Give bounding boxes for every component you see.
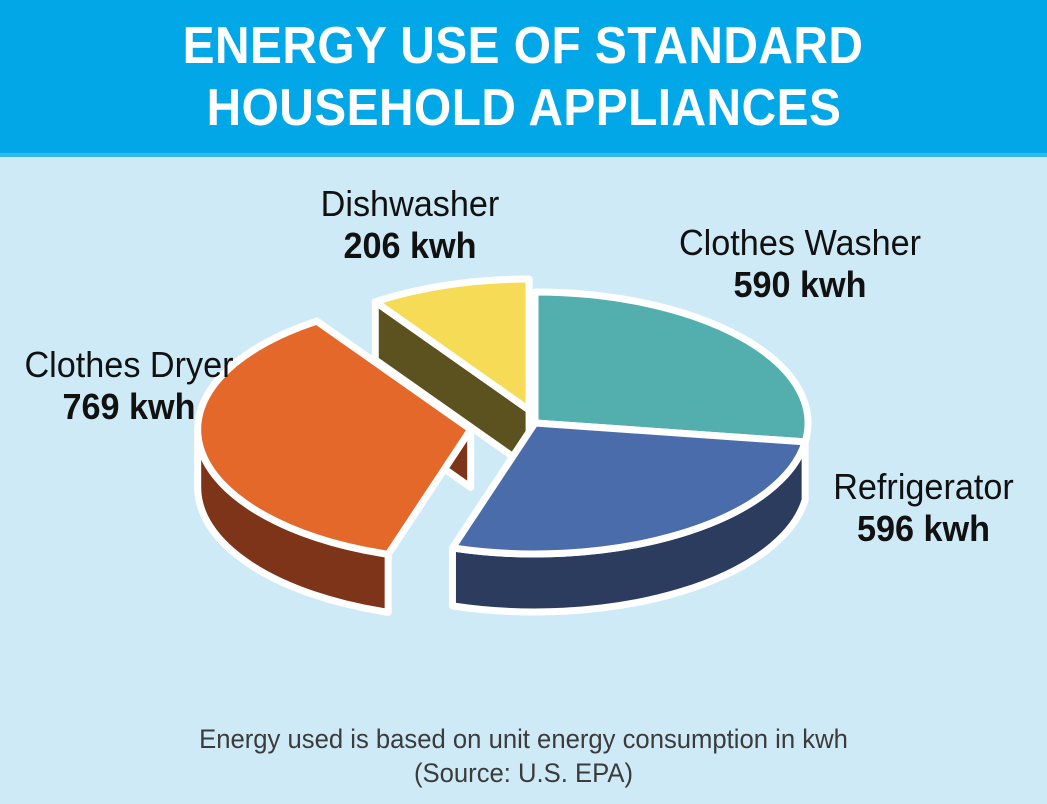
callout-refrigerator-value: 596 kwh <box>806 508 1041 550</box>
callout-clothes-washer-name: Clothes Washer <box>639 222 962 264</box>
source-note: Energy used is based on unit energy cons… <box>0 722 1047 790</box>
callout-refrigerator: Refrigerator 596 kwh <box>800 466 1047 550</box>
callout-refrigerator-name: Refrigerator <box>806 466 1041 508</box>
source-note-line-2: (Source: U.S. EPA) <box>26 756 1021 790</box>
callout-clothes-dryer: Clothes Dryer 769 kwh <box>0 344 264 428</box>
pie-slice-clothes-washer[interactable] <box>535 292 808 442</box>
callout-clothes-dryer-value: 769 kwh <box>1 386 258 428</box>
callout-dishwasher-name: Dishwasher <box>258 183 562 225</box>
callout-dishwasher: Dishwasher 206 kwh <box>250 183 570 267</box>
infographic-root: ENERGY USE OF STANDARD HOUSEHOLD APPLIAN… <box>0 0 1047 804</box>
source-note-line-1: Energy used is based on unit energy cons… <box>26 722 1021 756</box>
callout-clothes-washer: Clothes Washer 590 kwh <box>630 222 970 306</box>
header-banner: ENERGY USE OF STANDARD HOUSEHOLD APPLIAN… <box>0 0 1047 153</box>
callout-dishwasher-value: 206 kwh <box>258 225 562 267</box>
callout-clothes-washer-value: 590 kwh <box>639 264 962 306</box>
page-title-line-2: HOUSEHOLD APPLIANCES <box>206 77 841 139</box>
page-title-line-1: ENERGY USE OF STANDARD <box>183 15 864 77</box>
callout-clothes-dryer-name: Clothes Dryer <box>1 344 258 386</box>
